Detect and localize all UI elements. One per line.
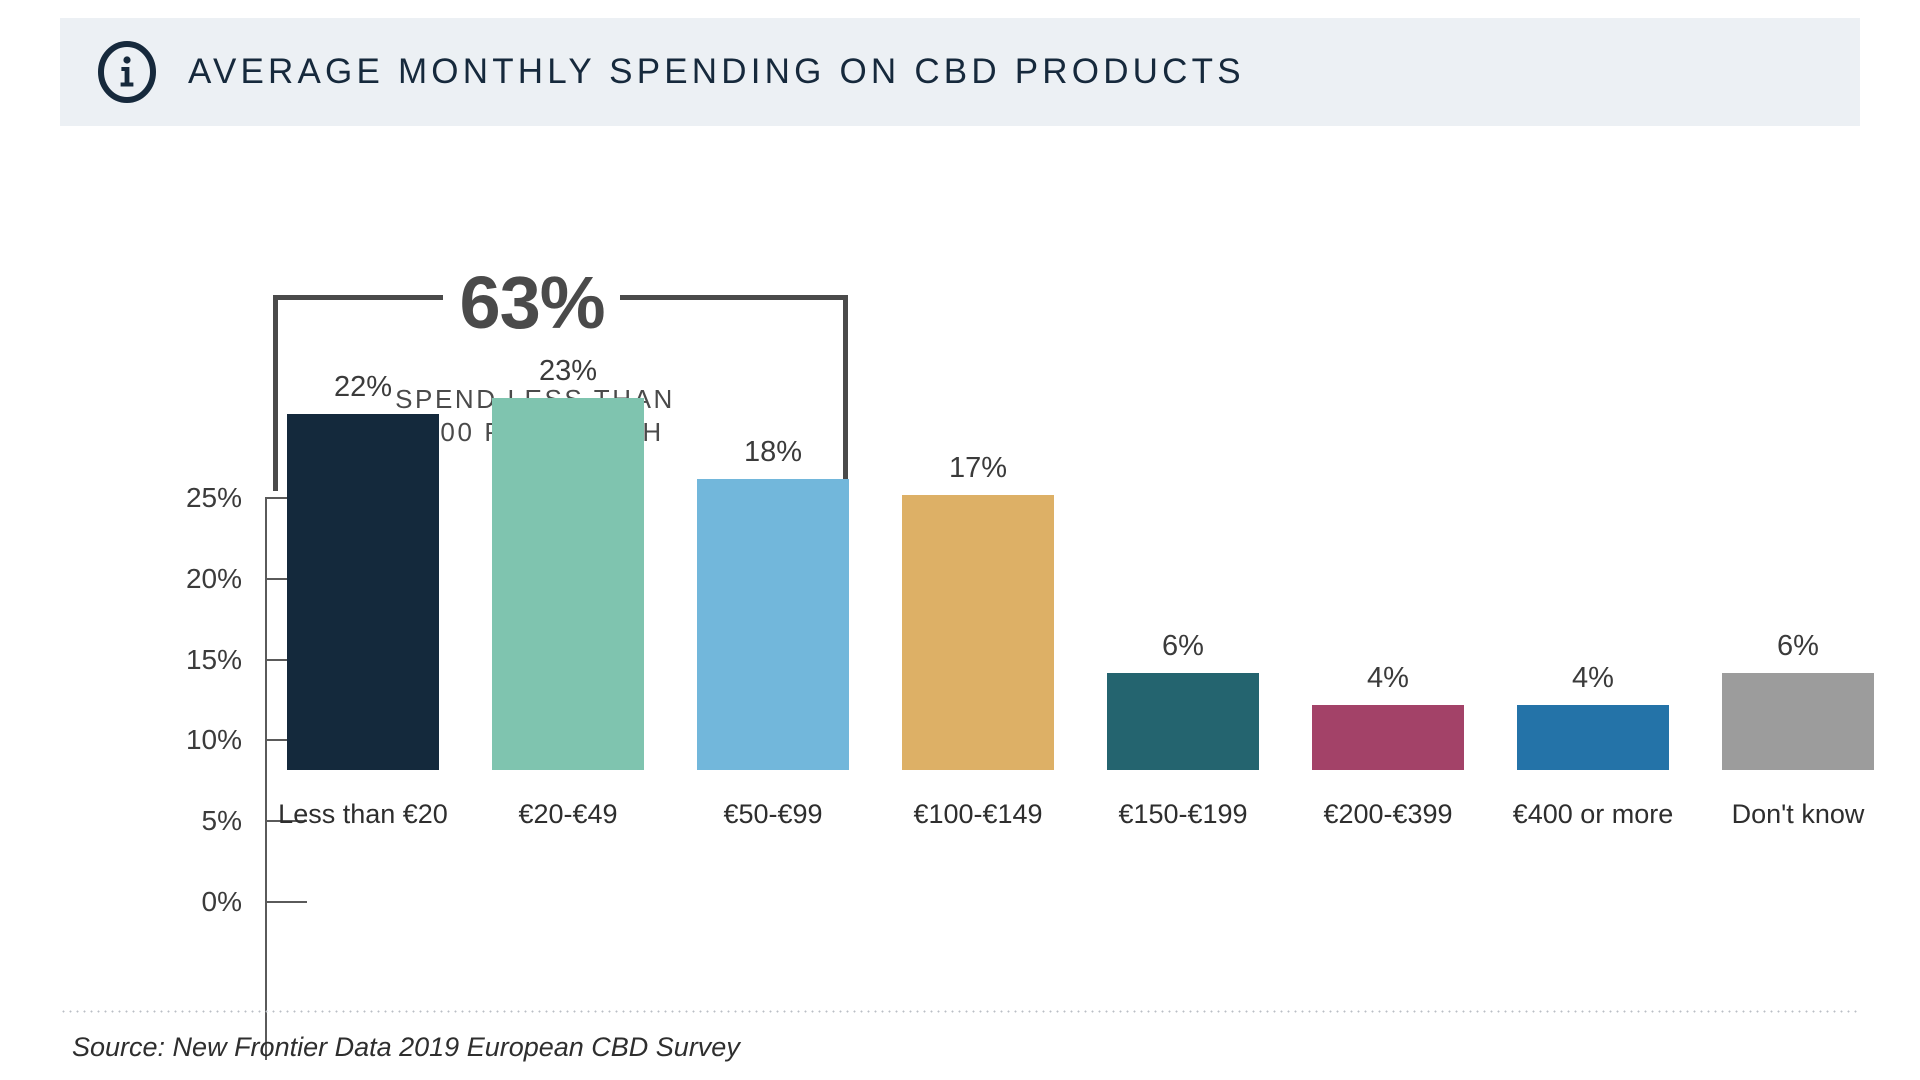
source-note: Source: New Frontier Data 2019 European … (72, 1032, 740, 1063)
bar-group[interactable]: 23%€20-€49 (492, 140, 644, 930)
bar-group[interactable]: 4%€200-€399 (1312, 140, 1464, 930)
x-axis-category-label: €50-€99 (671, 799, 875, 830)
bar-group[interactable]: 6%Don't know (1722, 140, 1874, 930)
bar[interactable] (492, 398, 644, 770)
bar-value-label: 22% (287, 371, 439, 404)
bar-group[interactable]: 18%€50-€99 (697, 140, 849, 930)
bar-value-label: 23% (492, 355, 644, 388)
bar-value-label: 18% (697, 436, 849, 469)
bar[interactable] (287, 414, 439, 770)
chart-header-band: AVERAGE MONTHLY SPENDING ON CBD PRODUCTS (60, 18, 1860, 126)
footer-divider (60, 1010, 1860, 1013)
x-axis-category-label: €100-€149 (876, 799, 1080, 830)
chart-plot-area: 63% SPEND LESS THAN €100 PER MONTH 25%20… (60, 140, 1860, 930)
x-axis-category-label: €20-€49 (466, 799, 670, 830)
infographic-chart-page: AVERAGE MONTHLY SPENDING ON CBD PRODUCTS… (0, 0, 1920, 1080)
x-axis-category-label: Don't know (1696, 799, 1900, 830)
bar-series: 22%Less than €2023%€20-€4918%€50-€9917%€… (60, 140, 1860, 930)
bar[interactable] (697, 479, 849, 770)
bar-value-label: 17% (902, 452, 1054, 485)
x-axis-category-label: Less than €20 (261, 799, 465, 830)
bar-value-label: 6% (1722, 630, 1874, 663)
bar-value-label: 4% (1312, 662, 1464, 695)
info-circle-icon (96, 41, 158, 103)
x-axis-category-label: €200-€399 (1286, 799, 1490, 830)
bar-group[interactable]: 22%Less than €20 (287, 140, 439, 930)
x-axis-category-label: €150-€199 (1081, 799, 1285, 830)
x-axis-category-label: €400 or more (1491, 799, 1695, 830)
bar-group[interactable]: 6%€150-€199 (1107, 140, 1259, 930)
bar[interactable] (1107, 673, 1259, 770)
bar[interactable] (1312, 705, 1464, 770)
bar-group[interactable]: 17%€100-€149 (902, 140, 1054, 930)
bar-group[interactable]: 4%€400 or more (1517, 140, 1669, 930)
bar[interactable] (1722, 673, 1874, 770)
bar-value-label: 6% (1107, 630, 1259, 663)
bar[interactable] (902, 495, 1054, 770)
bar-value-label: 4% (1517, 662, 1669, 695)
page-title: AVERAGE MONTHLY SPENDING ON CBD PRODUCTS (188, 52, 1245, 92)
bar[interactable] (1517, 705, 1669, 770)
